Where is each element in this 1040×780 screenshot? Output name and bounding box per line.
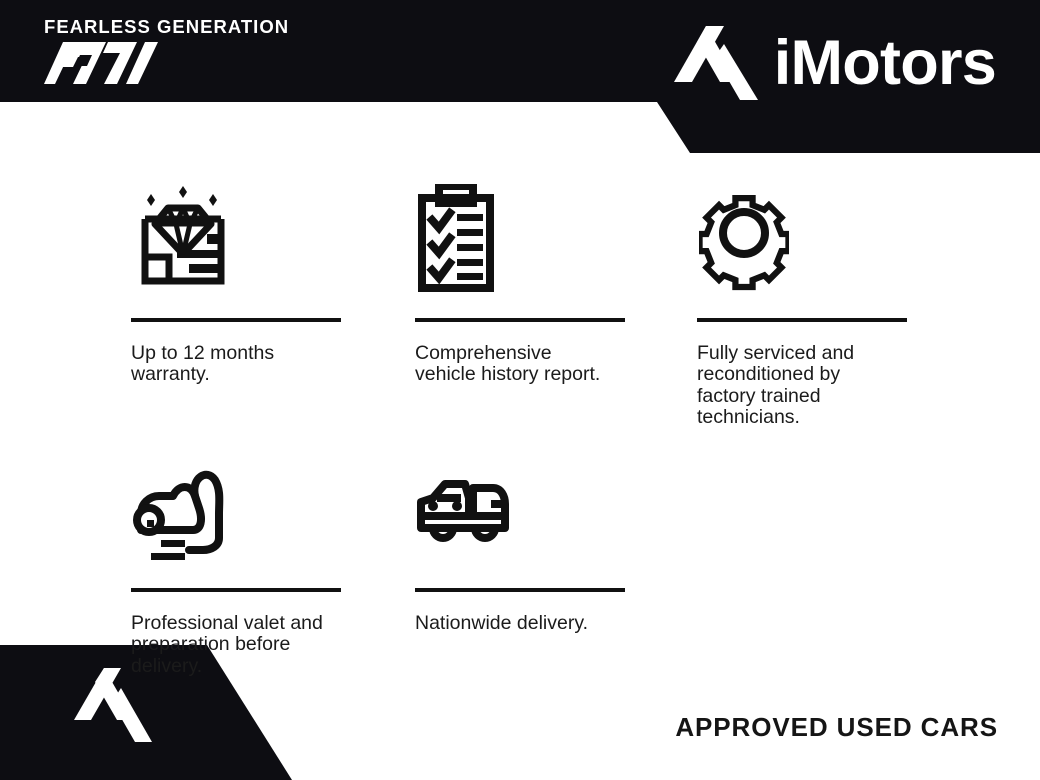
feature-label: Up to 12 months warranty. — [131, 343, 343, 386]
feature-divider — [131, 588, 341, 592]
imotors-chevron-logo-icon — [73, 668, 153, 758]
feature-label: Fully serviced and reconditioned by fact… — [697, 343, 909, 428]
brand-name: iMotors — [774, 32, 996, 95]
feature-grid: Up to 12 months warranty. — [0, 180, 1040, 677]
vacuum-cleaner-icon — [131, 450, 343, 562]
feature-card-delivery: Nationwide delivery. — [415, 450, 697, 634]
feature-card-valet: Professional valet and preparation befor… — [131, 450, 413, 677]
feature-card-history-report: Comprehensive vehicle history report. — [415, 180, 697, 386]
clipboard-checklist-icon — [415, 180, 627, 292]
imotors-chevron-logo-icon — [672, 26, 758, 100]
feature-card-warranty: Up to 12 months warranty. — [131, 180, 413, 386]
feature-divider — [415, 318, 625, 322]
gear-cog-icon — [697, 180, 909, 292]
feature-label: Comprehensive vehicle history report. — [415, 343, 627, 386]
warranty-diamond-certificate-icon — [131, 180, 343, 292]
feature-label: Nationwide delivery. — [415, 613, 627, 634]
promo-poster: FEARLESS GENERATION iMotors — [0, 0, 1040, 780]
header-brand-group: iMotors — [672, 26, 996, 100]
feature-divider — [697, 318, 907, 322]
feature-label: Professional valet and preparation befor… — [131, 613, 343, 677]
car-transporter-truck-icon — [415, 450, 627, 562]
feature-row-top: Up to 12 months warranty. — [0, 180, 1040, 428]
feature-card-serviced: Fully serviced and reconditioned by fact… — [697, 180, 979, 428]
header-eyebrow: FEARLESS GENERATION — [44, 18, 289, 37]
header-left-group: FEARLESS GENERATION — [44, 18, 289, 91]
1971-stylized-wordmark-icon — [44, 40, 164, 86]
footer-tagline: APPROVED USED CARS — [675, 714, 998, 740]
feature-row-bottom: Professional valet and preparation befor… — [0, 450, 1040, 677]
feature-divider — [415, 588, 625, 592]
feature-divider — [131, 318, 341, 322]
